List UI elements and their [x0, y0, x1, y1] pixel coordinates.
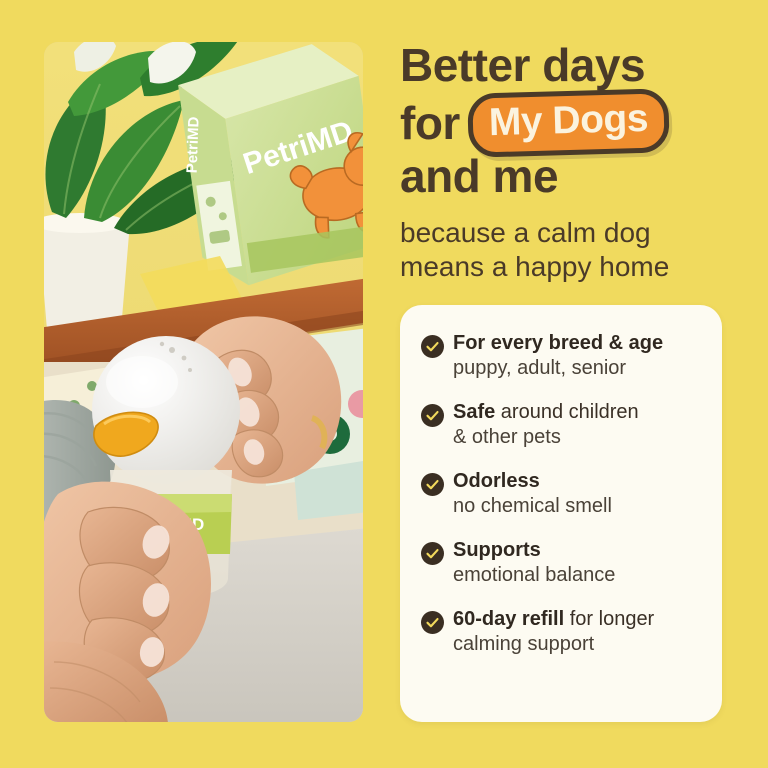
my-dogs-badge: My Dogs: [467, 88, 670, 158]
benefit-item: Odorless no chemical smell: [421, 469, 704, 519]
benefit-text: For every breed & age puppy, adult, seni…: [453, 331, 663, 381]
right-content-column: Better days for My Dogs and me because a…: [400, 40, 736, 284]
benefit-subtitle: no chemical smell: [453, 494, 612, 519]
benefit-subtitle: calming support: [453, 632, 654, 657]
check-icon: [421, 473, 444, 496]
benefit-text: Odorless no chemical smell: [453, 469, 612, 519]
benefit-item: Supports emotional balance: [421, 538, 704, 588]
benefit-text: 60-day refill for longer calming support: [453, 607, 654, 657]
benefit-title: Safe: [453, 401, 495, 423]
subheadline-line-1: because a calm dog: [400, 216, 736, 250]
benefit-title: Supports: [453, 539, 541, 561]
photo-illustration: PetriMD PetriMD: [44, 42, 363, 722]
benefit-subtitle: & other pets: [453, 425, 639, 450]
subheadline: because a calm dog means a happy home: [400, 216, 736, 284]
check-icon: [421, 542, 444, 565]
benefit-title: 60-day refill: [453, 608, 564, 630]
benefit-item: For every breed & age puppy, adult, seni…: [421, 331, 704, 381]
benefit-text: Safe around children & other pets: [453, 400, 639, 450]
check-icon: [421, 404, 444, 427]
benefit-subtitle: puppy, adult, senior: [453, 356, 663, 381]
headline-line-2-prefix: for: [400, 98, 460, 149]
subheadline-line-2: means a happy home: [400, 250, 736, 284]
svg-text:PetriMD: PetriMD: [184, 116, 203, 173]
benefit-rest: for longer: [564, 608, 654, 630]
benefit-item: Safe around children & other pets: [421, 400, 704, 450]
benefit-title: For every breed & age: [453, 332, 663, 354]
headline-line-3: and me: [400, 151, 736, 202]
benefit-title: Odorless: [453, 470, 540, 492]
product-lifestyle-photo: PetriMD PetriMD: [44, 42, 363, 722]
headline-line-2: for My Dogs: [400, 91, 736, 155]
headline-line-1: Better days: [400, 40, 736, 91]
check-icon: [421, 335, 444, 358]
benefit-text: Supports emotional balance: [453, 538, 615, 588]
ad-creative: PetriMD PetriMD: [0, 0, 768, 768]
check-icon: [421, 611, 444, 634]
benefits-card: For every breed & age puppy, adult, seni…: [400, 305, 722, 722]
benefit-subtitle: emotional balance: [453, 563, 615, 588]
benefit-item: 60-day refill for longer calming support: [421, 607, 704, 657]
headline: Better days for My Dogs and me: [400, 40, 736, 202]
benefit-rest: around children: [495, 401, 638, 423]
